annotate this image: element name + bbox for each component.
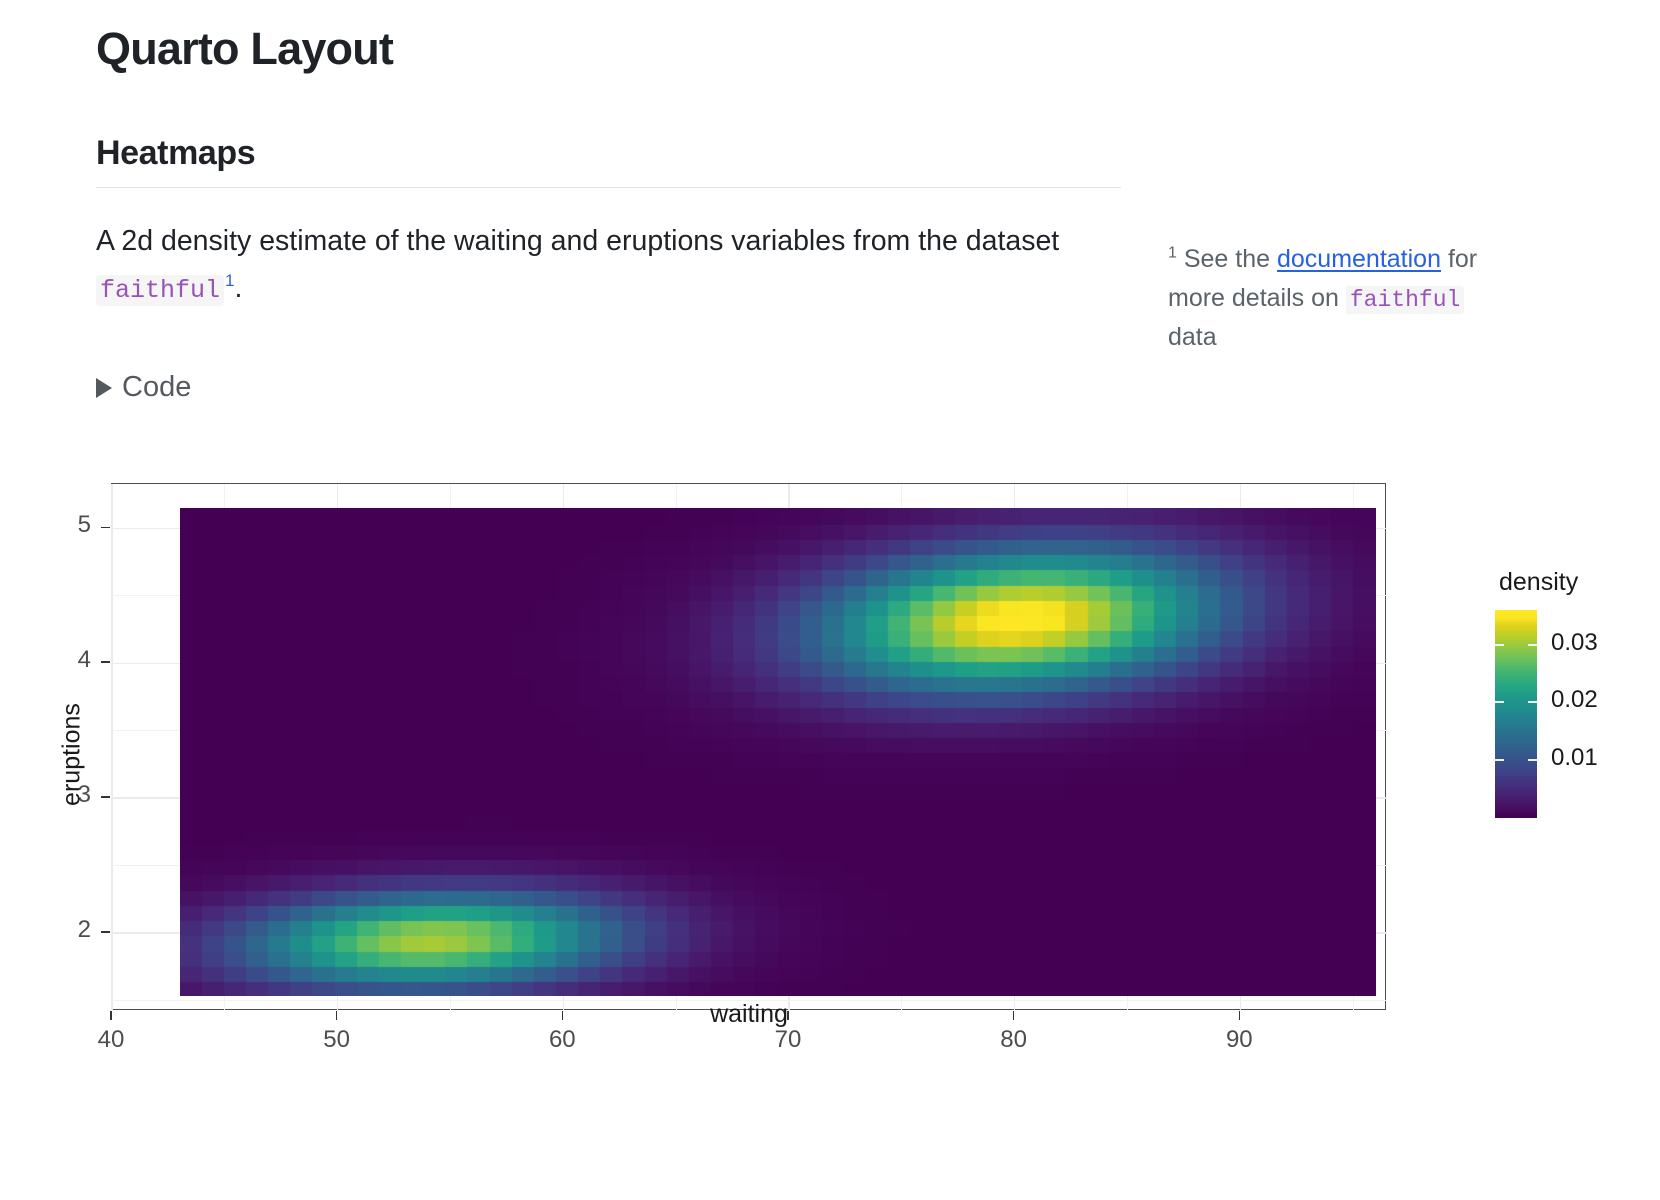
y-axis-tick	[101, 527, 110, 529]
y-axis-tick-label: 4	[1, 646, 91, 674]
legend-tick-mark	[1495, 759, 1504, 761]
body-text-part2: .	[235, 272, 243, 304]
x-axis-tick	[336, 1011, 338, 1020]
margin-inline-code-faithful: faithful	[1346, 286, 1464, 314]
x-axis-tick-label: 60	[512, 1026, 612, 1054]
x-axis-tick-label: 50	[287, 1026, 387, 1054]
page-title: Quarto Layout	[96, 24, 1126, 74]
y-axis-tick	[101, 931, 110, 933]
legend-tick-label: 0.01	[1551, 744, 1598, 772]
x-axis-tick-label: 90	[1189, 1026, 1289, 1054]
code-disclosure-toggle[interactable]: Code	[96, 371, 191, 404]
documentation-link[interactable]: documentation	[1277, 245, 1441, 273]
footnote-reference[interactable]: 1	[225, 271, 234, 290]
density-heatmap-figure: 4050607080902345 eruptions waiting densi…	[0, 440, 1660, 1100]
legend-colorbar	[1495, 610, 1537, 818]
margin-note-text-before: See the	[1177, 245, 1277, 273]
x-axis-tick	[1013, 1011, 1015, 1020]
margin-note: 1 See the documentation for more details…	[1168, 240, 1508, 357]
legend-tick-mark	[1528, 701, 1537, 703]
page-root: Quarto Layout Heatmaps A 2d density esti…	[0, 0, 1660, 1200]
legend-tick-mark	[1495, 644, 1504, 646]
y-axis-tick	[101, 796, 110, 798]
article-content: Quarto Layout Heatmaps A 2d density esti…	[96, 24, 1126, 340]
y-axis-tick-label: 5	[1, 511, 91, 539]
legend-tick-label: 0.02	[1551, 686, 1598, 714]
body-text-part1: A 2d density estimate of the waiting and…	[96, 225, 1059, 257]
section-header-wrap: Heatmaps	[96, 134, 1121, 188]
x-axis-tick-label: 70	[738, 1026, 838, 1054]
legend-tick-mark	[1528, 759, 1537, 761]
legend-tick-mark	[1495, 701, 1504, 703]
x-axis-tick	[1239, 1011, 1241, 1020]
x-axis-title: waiting	[669, 1000, 829, 1029]
heatmap-raster	[180, 508, 1376, 996]
y-axis-tick	[101, 661, 110, 663]
x-axis-tick	[110, 1011, 112, 1020]
disclosure-triangle-right-icon	[96, 378, 112, 398]
x-axis-tick	[562, 1011, 564, 1020]
margin-note-marker: 1	[1168, 245, 1177, 262]
legend-tick-label: 0.03	[1551, 629, 1598, 657]
legend-title: density	[1499, 568, 1578, 597]
x-axis-tick-label: 40	[61, 1026, 161, 1054]
y-axis-tick-label: 2	[1, 916, 91, 944]
x-axis-tick-label: 80	[964, 1026, 1064, 1054]
inline-code-faithful: faithful	[96, 275, 224, 306]
body-paragraph: A 2d density estimate of the waiting and…	[96, 218, 1096, 311]
section-heading: Heatmaps	[96, 134, 1121, 173]
code-toggle-label: Code	[122, 371, 191, 404]
legend-tick-mark	[1528, 644, 1537, 646]
margin-note-text-after: data	[1168, 323, 1217, 351]
plot-panel	[111, 483, 1386, 1010]
y-axis-title: eruptions	[58, 675, 87, 835]
